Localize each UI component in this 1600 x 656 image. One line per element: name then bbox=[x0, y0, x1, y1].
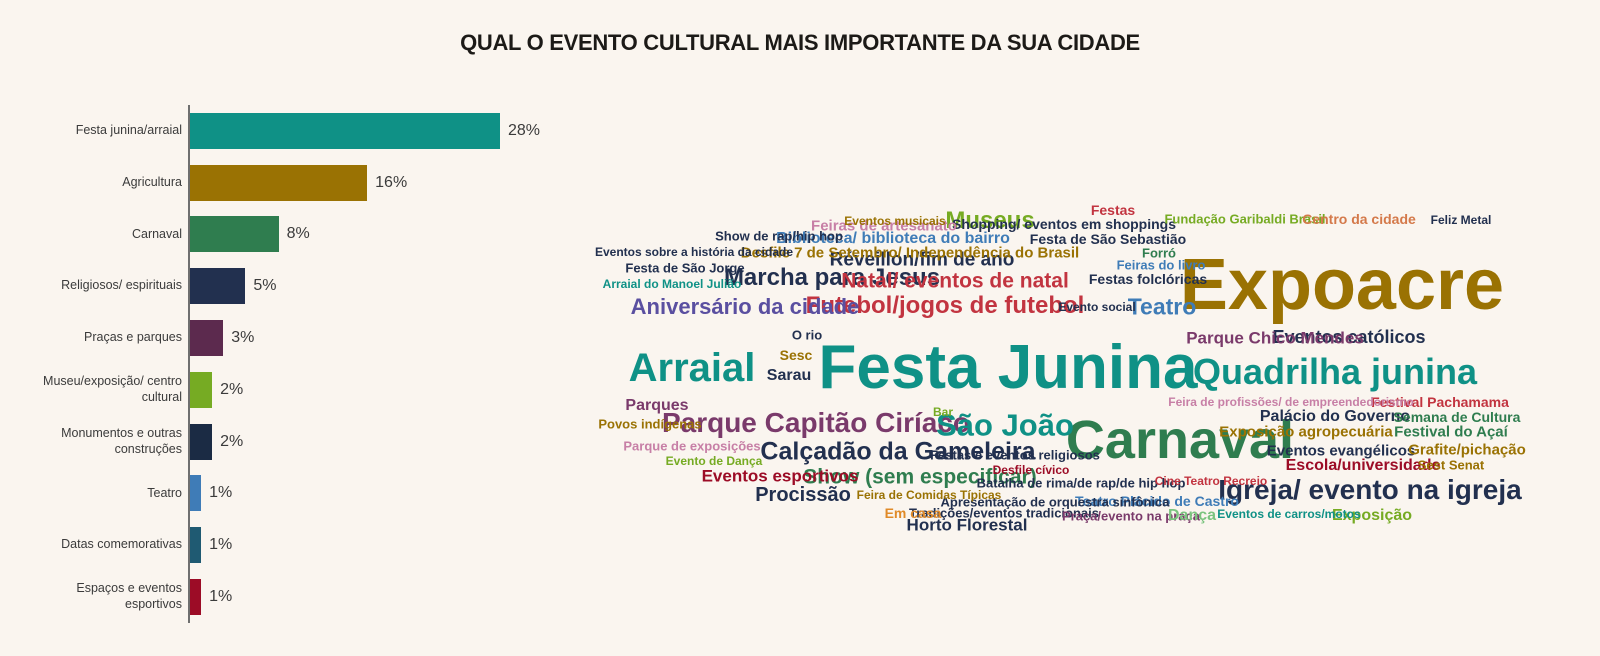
bar-value-label: 1% bbox=[209, 536, 232, 554]
cloud-word: Evento de Dança bbox=[666, 455, 763, 467]
bar-category-label: Monumentos e outras construções bbox=[40, 426, 190, 457]
cloud-word: Dança bbox=[1168, 508, 1216, 524]
cloud-word: Eventos evangélicos bbox=[1267, 444, 1415, 459]
cloud-word: Teatro bbox=[1128, 296, 1197, 319]
bar-category-label: Museu/exposição/ centro cultural bbox=[40, 374, 190, 405]
bar-row: Monumentos e outras construções2% bbox=[40, 416, 580, 468]
cloud-word: Semana de Cultura bbox=[1394, 410, 1521, 424]
cloud-word: Parque Chico Mendes bbox=[1186, 330, 1364, 347]
bar-category-label: Agricultura bbox=[40, 175, 190, 191]
cloud-word: Eventos musicais bbox=[844, 215, 945, 227]
bar-chart: Festa junina/arraial28%Agricultura16%Car… bbox=[40, 105, 580, 625]
bar-track: 1% bbox=[190, 527, 580, 563]
cloud-word: Festas folclóricas bbox=[1089, 272, 1207, 286]
cloud-word: Centro da cidade bbox=[1302, 212, 1416, 226]
bar-row: Museu/exposição/ centro cultural2% bbox=[40, 364, 580, 416]
bar-row: Religiosos/ espirituais5% bbox=[40, 260, 580, 312]
cloud-word: Sarau bbox=[767, 368, 811, 384]
bar-value-label: 3% bbox=[231, 329, 254, 347]
bar-rect bbox=[190, 527, 201, 563]
cloud-word: Arraial bbox=[629, 348, 756, 388]
cloud-word: Eventos esportivos bbox=[702, 468, 859, 485]
bar-rect bbox=[190, 320, 223, 356]
bar-value-label: 1% bbox=[209, 588, 232, 606]
cloud-word: Parque Capitão Ciríaco bbox=[662, 409, 970, 437]
cloud-word: Festa de São Jorge bbox=[625, 262, 744, 275]
cloud-word: São João bbox=[936, 410, 1074, 441]
bar-category-label: Teatro bbox=[40, 486, 190, 502]
bar-rect bbox=[190, 372, 212, 408]
cloud-word: Feira de profissões/ de empreendedorismo bbox=[1168, 396, 1413, 408]
page-title: QUAL O EVENTO CULTURAL MAIS IMPORTANTE D… bbox=[0, 30, 1600, 56]
cloud-word: Bar bbox=[933, 406, 953, 418]
bar-track: 1% bbox=[190, 475, 580, 511]
bar-rect bbox=[190, 113, 500, 149]
bar-category-label: Datas comemorativas bbox=[40, 537, 190, 553]
bar-track: 2% bbox=[190, 424, 580, 460]
cloud-word: Eventos sobre a história da cidade bbox=[595, 246, 793, 258]
cloud-word: Festa de São Sebastião bbox=[1030, 232, 1186, 246]
cloud-word: Festa Junina bbox=[819, 337, 1198, 399]
cloud-word: Shopping/ eventos em shoppings bbox=[952, 217, 1176, 231]
cloud-word: Show de rap/hip hop bbox=[715, 230, 843, 243]
bar-value-label: 8% bbox=[287, 225, 310, 243]
bar-value-label: 2% bbox=[220, 433, 243, 451]
bar-track: 8% bbox=[190, 216, 580, 252]
cloud-word: Desfile cívico bbox=[993, 464, 1070, 476]
bar-row: Festa junina/arraial28% bbox=[40, 105, 580, 157]
cloud-word: Parque de exposições bbox=[623, 440, 760, 453]
bar-rect bbox=[190, 424, 212, 460]
bar-track: 28% bbox=[190, 113, 580, 149]
cloud-word: Quadrilha junina bbox=[1193, 354, 1477, 390]
bar-rect bbox=[190, 216, 279, 252]
bar-category-label: Espaços e eventos esportivos bbox=[40, 581, 190, 612]
bar-track: 2% bbox=[190, 372, 580, 408]
cloud-word: Festas bbox=[1091, 203, 1135, 217]
bar-rect bbox=[190, 475, 201, 511]
cloud-word: Sest Senat bbox=[1418, 459, 1484, 472]
cloud-word: Em casa bbox=[885, 506, 942, 520]
bar-row: Teatro1% bbox=[40, 468, 580, 520]
bar-value-label: 16% bbox=[375, 174, 407, 192]
bar-row: Datas comemorativas1% bbox=[40, 519, 580, 571]
bar-category-label: Praças e parques bbox=[40, 330, 190, 346]
cloud-word: Parques bbox=[625, 398, 688, 414]
bar-value-label: 1% bbox=[209, 484, 232, 502]
cloud-word: Festival do Açaí bbox=[1394, 425, 1508, 440]
bar-rect bbox=[190, 165, 367, 201]
cloud-word: Feira de Comidas Típicas bbox=[857, 489, 1002, 501]
cloud-word: Exposição agropecuária bbox=[1219, 425, 1392, 440]
bar-value-label: 2% bbox=[220, 381, 243, 399]
word-cloud: ExpoacreFesta JuninaCarnavalQuadrilha ju… bbox=[600, 190, 1600, 550]
bar-track: 16% bbox=[190, 165, 580, 201]
bar-row: Espaços e eventos esportivos1% bbox=[40, 571, 580, 623]
cloud-word: O rio bbox=[792, 329, 822, 342]
bar-value-label: 5% bbox=[253, 277, 276, 295]
cloud-word: Arraial do Manoel Julião bbox=[603, 278, 742, 290]
bar-track: 5% bbox=[190, 268, 580, 304]
bar-row: Agricultura16% bbox=[40, 157, 580, 209]
cloud-word: Procissão bbox=[755, 485, 851, 505]
cloud-word: Cine Teatro Recreio bbox=[1155, 475, 1267, 487]
cloud-word: Aniversário da cidade bbox=[631, 296, 860, 318]
cloud-word: Feliz Metal bbox=[1431, 214, 1492, 226]
cloud-word: Eventos de carros/motos bbox=[1217, 508, 1360, 520]
bar-track: 1% bbox=[190, 579, 580, 615]
bar-category-label: Festa junina/arraial bbox=[40, 123, 190, 139]
cloud-word: Grafite/pichação bbox=[1408, 443, 1526, 458]
cloud-word: Povos indígenas bbox=[598, 418, 701, 431]
bar-value-label: 28% bbox=[508, 122, 540, 140]
bar-row: Carnaval8% bbox=[40, 209, 580, 261]
bar-category-label: Carnaval bbox=[40, 227, 190, 243]
bar-rect bbox=[190, 268, 245, 304]
cloud-word: Expoacre bbox=[1180, 249, 1504, 321]
cloud-word: Evento social bbox=[1058, 301, 1135, 313]
bar-row: Praças e parques3% bbox=[40, 312, 580, 364]
bar-rect bbox=[190, 579, 201, 615]
cloud-word: Palácio do Governo bbox=[1260, 409, 1410, 425]
cloud-word: Natal/ eventos de natal bbox=[841, 271, 1069, 292]
bar-category-label: Religiosos/ espirituais bbox=[40, 278, 190, 294]
cloud-word: Sesc bbox=[780, 348, 813, 362]
cloud-word: Festas e eventos religiosos bbox=[930, 449, 1100, 462]
cloud-word: Forró bbox=[1142, 247, 1176, 260]
bar-track: 3% bbox=[190, 320, 580, 356]
